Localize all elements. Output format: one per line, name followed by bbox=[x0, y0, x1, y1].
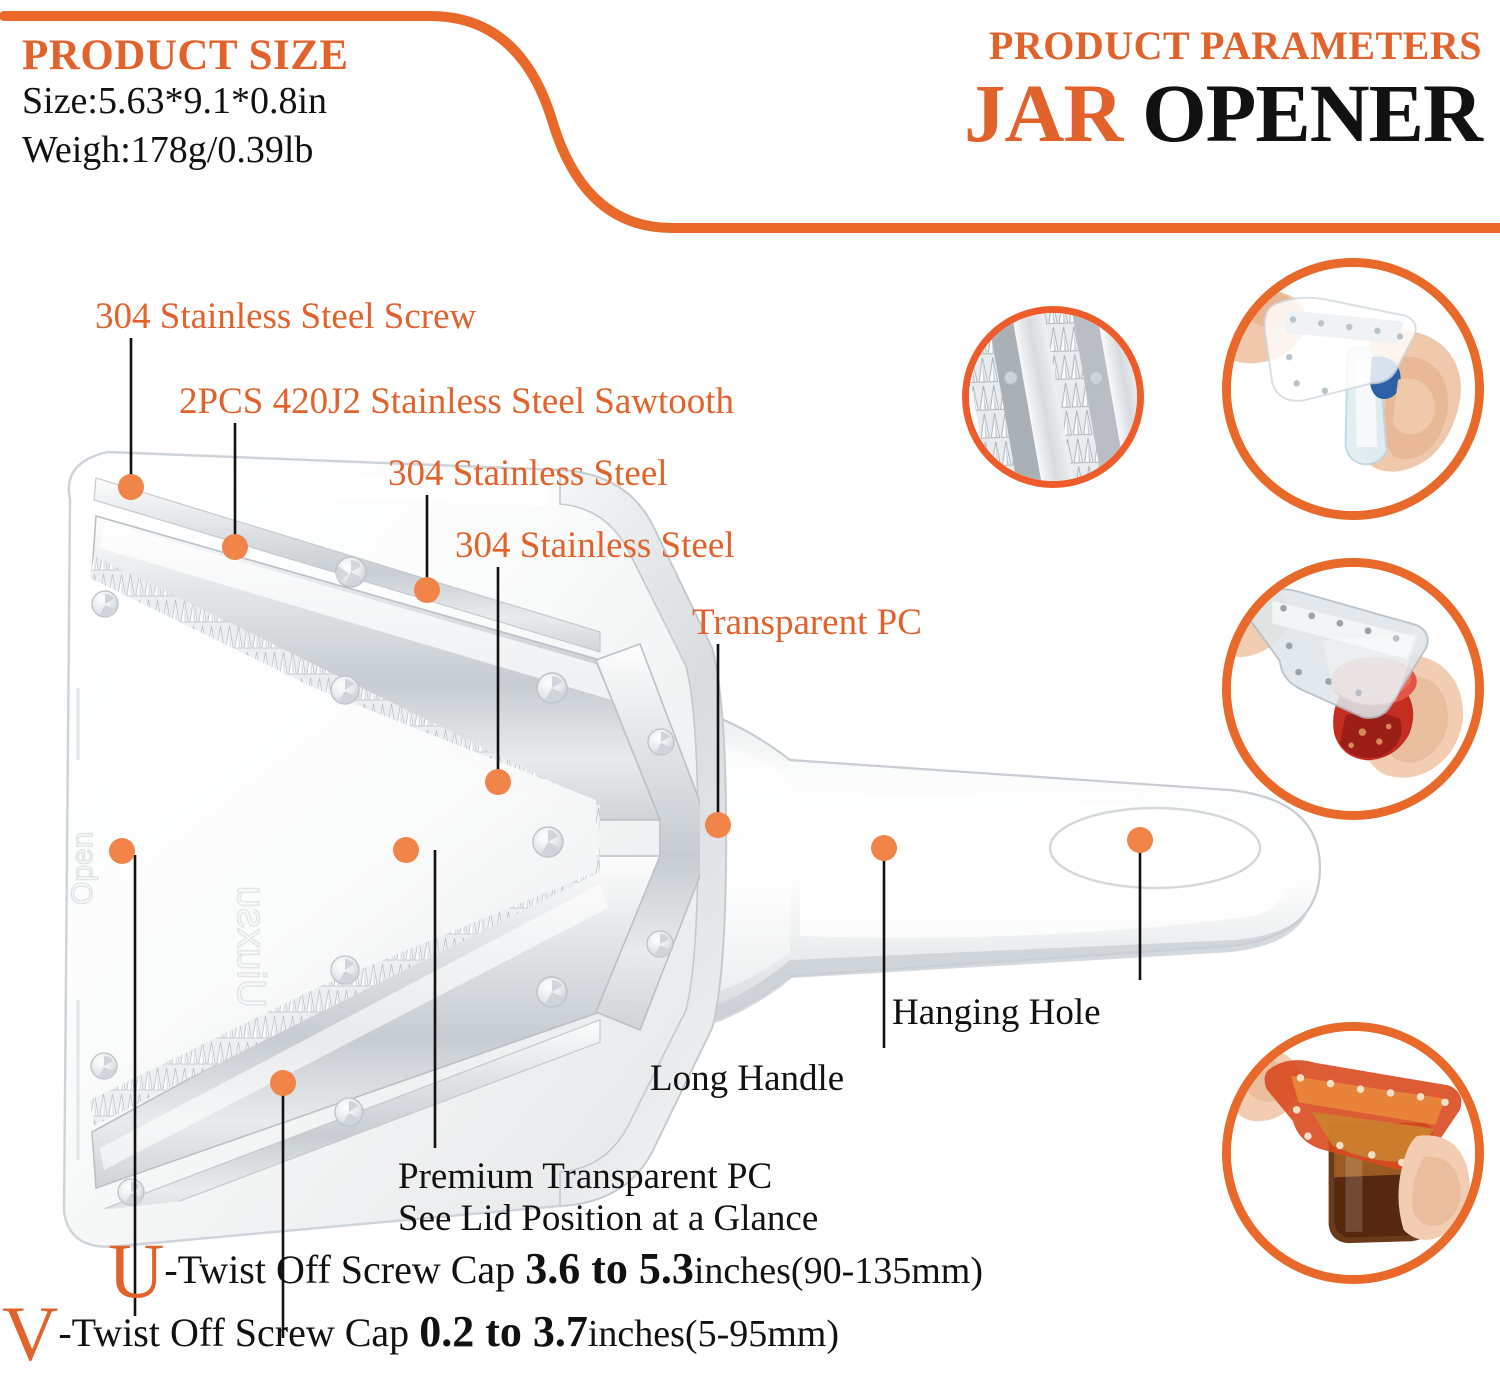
spec-unit-text: inches(5-95mm) bbox=[588, 1313, 839, 1355]
spec-dash-text: -Twist Off Screw Cap bbox=[164, 1247, 525, 1292]
sawtooth-detail-illustration bbox=[969, 313, 1137, 481]
spec-row-u-spec: U-Twist Off Screw Cap 3.6 to 5.3inches(9… bbox=[108, 1240, 983, 1302]
spec-range-value: 3.6 to 5.3 bbox=[525, 1244, 694, 1293]
photo-jam-jar bbox=[1222, 558, 1484, 820]
photo-large-jar-art bbox=[1231, 1031, 1475, 1275]
photo-water-bottle-art bbox=[1231, 267, 1475, 511]
spec-range-value: 0.2 to 3.7 bbox=[419, 1307, 588, 1356]
photo-jam-jar-art bbox=[1231, 567, 1475, 811]
photo-water-bottle bbox=[1222, 258, 1484, 520]
spec-letter-u: U bbox=[108, 1227, 164, 1314]
spec-dash-text: -Twist Off Screw Cap bbox=[58, 1310, 419, 1355]
photo-large-jar bbox=[1222, 1022, 1484, 1284]
spec-row-v-spec: V-Twist Off Screw Cap 0.2 to 3.7inches(5… bbox=[2, 1303, 839, 1365]
spec-unit-text: inches(90-135mm) bbox=[694, 1250, 983, 1292]
spec-letter-v: V bbox=[2, 1290, 58, 1377]
sawtooth-detail-circle bbox=[962, 306, 1144, 488]
